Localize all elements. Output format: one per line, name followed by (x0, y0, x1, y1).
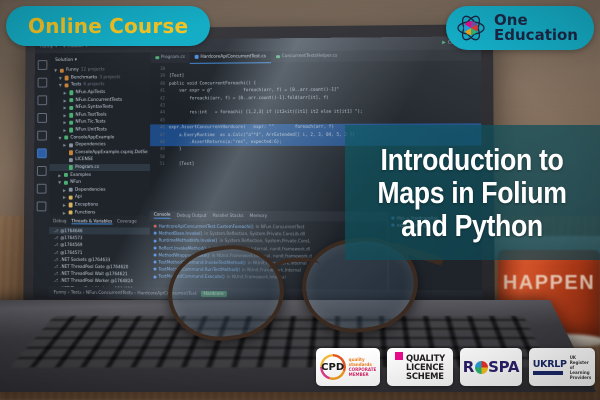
disclosure-arrow-icon[interactable]: ▶ (63, 113, 67, 118)
line-number: 48 (150, 139, 169, 146)
tree-item[interactable]: ▶Dependencies (50, 141, 150, 149)
frame-icon (154, 268, 157, 271)
file-type-icon (65, 76, 69, 80)
tree-item-label: Functions (75, 210, 95, 215)
file-type-icon (69, 128, 73, 132)
file-type-icon (69, 150, 73, 154)
disclosure-arrow-icon[interactable]: ▼ (58, 180, 62, 185)
tree-item-label: Funny (66, 68, 79, 73)
disclosure-arrow-icon[interactable]: ▼ (54, 68, 58, 73)
debug-tab[interactable]: Memory (250, 214, 267, 219)
frame-icon (154, 232, 157, 235)
title-line-3: and Python (378, 209, 567, 242)
tree-item[interactable]: ▼NFun (49, 179, 150, 187)
disclosure-arrow-icon[interactable]: ▼ (58, 135, 62, 140)
tree-item-label: NFun.UnitTests (75, 128, 107, 133)
ukrlp-bar-icon (533, 371, 563, 375)
line-number: 51 (150, 161, 169, 168)
disclosure-arrow-icon[interactable]: ▼ (59, 83, 63, 88)
cpd-abbr: CPD (320, 354, 346, 380)
thread-label: .NET ThreadPool Worker @1764824 (60, 278, 133, 284)
tree-item-label: Dependencies (75, 188, 105, 193)
tree-item[interactable]: Program.cs (50, 164, 150, 172)
tree-item-label: NFun.Tic.Tests (75, 120, 105, 125)
frame-icon (154, 239, 157, 242)
disclosure-arrow-icon[interactable]: ▶ (63, 195, 67, 200)
file-type-icon (69, 158, 73, 162)
file-type-icon (69, 98, 73, 102)
error-icon (154, 225, 157, 228)
title-line-2: Maps in Folium (378, 176, 567, 209)
title-line-1: Introduction to (378, 143, 567, 176)
thread-icon: ⎇ (54, 250, 59, 255)
threads-panel[interactable]: DebugThreads & VariablesCoverage ⎇@17646… (49, 215, 150, 287)
frame-icon (154, 246, 157, 249)
bookmarks-icon[interactable] (37, 131, 47, 141)
rospa-pre: R (463, 358, 474, 376)
mug-word-text: HAPPEN (498, 272, 600, 295)
line-number: 41 (150, 88, 169, 95)
file-type-icon (69, 121, 73, 125)
line-number: 42 (150, 95, 169, 102)
disclosure-arrow-icon[interactable]: ▶ (63, 120, 67, 125)
editor-tab-label: ConcurrentTestsHelper.cs (282, 54, 338, 59)
online-course-badge: Online Course (6, 6, 210, 46)
thread-label: @1764646 (60, 228, 82, 233)
project-view-icon[interactable] (38, 60, 48, 70)
qls-square-icon (395, 352, 403, 360)
chevron-down-icon: ▾ (75, 58, 77, 63)
thread-label: .NET Sockets @1764633 (60, 257, 110, 262)
debug-tab[interactable]: Debug Output (176, 213, 206, 218)
disclosure-arrow-icon[interactable]: ▶ (64, 98, 68, 103)
debug-tab[interactable]: Parallel Stacks (213, 213, 244, 218)
structure-icon[interactable] (37, 113, 47, 123)
badge-cpd: CPD quality standards CORPORATE MEMBER (316, 348, 380, 386)
disclosure-arrow-icon[interactable]: ▶ (63, 203, 67, 208)
thread-label: @1764569 (60, 243, 82, 248)
brand-logo-badge: One Education (446, 6, 594, 50)
thread-icon: ⎇ (54, 264, 59, 269)
editor-tab-label: HardcoreApiConcurrentTest.cs (200, 54, 266, 60)
ukrlp-mark: UKRLP (533, 359, 567, 376)
thread-icon: ⎇ (54, 271, 59, 276)
threads-list[interactable]: ⎇@1764646⎇@1764573⎇@1764569⎇@1764571⎇.NE… (49, 227, 150, 287)
line-number: 47 (150, 132, 169, 139)
thread-label: .NET ThreadPool Gate @1764620 (60, 264, 128, 269)
badge-quality-licence-scheme: QUALITY LICENCE SCHEME (387, 348, 453, 386)
thread-label: .NET ThreadPool Wait @1764621 (60, 271, 128, 277)
line-number: 38 (150, 66, 169, 73)
code-text: res:int = foreachi( [1,2,3] if (it2<it)[… (169, 109, 363, 117)
badge-rospa: R SPA (460, 348, 522, 386)
tree-item-label: ConsoleAppExample (70, 135, 114, 140)
atom-icon (456, 13, 486, 43)
cs-file-icon (276, 55, 280, 59)
threads-tab[interactable]: Threads & Variables (71, 218, 112, 224)
file-type-icon (69, 106, 73, 110)
terminal-icon[interactable] (37, 166, 47, 176)
line-number: 50 (150, 154, 169, 161)
tree-item-label: Tests (71, 83, 82, 88)
cs-file-icon (155, 56, 159, 60)
frame-icon (153, 275, 156, 278)
thread-icon: ⎇ (54, 257, 59, 262)
tree-item-label: NFun (70, 180, 81, 185)
disclosure-arrow-icon[interactable]: ▶ (63, 143, 67, 148)
file-type-icon (64, 173, 68, 177)
file-type-icon (65, 83, 69, 87)
line-number: 49 (150, 147, 169, 154)
file-type-icon (64, 135, 68, 139)
ukrlp-line-3: Providers (570, 375, 592, 380)
file-type-icon (69, 165, 73, 169)
debug-icon[interactable] (37, 148, 47, 158)
tree-item-label: NFun.SyntaxTests (75, 105, 113, 110)
editor-tab[interactable]: Program.cs (150, 52, 190, 63)
history-icon[interactable] (37, 184, 47, 194)
tree-item-sublabel: 12 projects (81, 68, 105, 73)
tree-item-label: Exceptions (75, 203, 98, 208)
qls-text: QUALITY LICENCE SCHEME (406, 354, 445, 381)
qls-line-3: SCHEME (406, 372, 445, 381)
brand-line-2: Education (494, 28, 578, 43)
thread-icon: ⎇ (54, 242, 59, 247)
file-type-icon (69, 203, 73, 207)
file-type-icon (64, 180, 68, 184)
thread-icon: ⎇ (54, 278, 59, 283)
code-text: } (169, 147, 182, 154)
editor-tab-label: Program.cs (161, 55, 185, 60)
disclosure-arrow-icon[interactable]: ▶ (63, 188, 67, 193)
tree-item-label: Examples (70, 173, 91, 178)
tree-item-label: ConsoleAppExample.csproj.DotSe (75, 150, 148, 155)
accreditation-badges: CPD quality standards CORPORATE MEMBER Q… (316, 348, 595, 386)
tree-item[interactable]: ConsoleAppExample.csproj.DotSe (50, 149, 150, 157)
cpd-line-4: MEMBER (349, 372, 377, 377)
glasses-left-lens (163, 239, 290, 346)
tree-item-label: Program.cs (75, 165, 99, 170)
tree-item-label: Dependencies (75, 143, 105, 148)
tree-item[interactable]: LICENSE (50, 156, 150, 164)
cpd-ring-icon: CPD (320, 354, 346, 380)
cs-file-icon (195, 55, 199, 59)
breadcrumb-item[interactable]: Tests (71, 290, 82, 295)
tree-item-sublabel: 3 projects (99, 75, 120, 80)
tree-item-label: LICENSE (75, 158, 93, 163)
editor-tab[interactable]: ConcurrentTestsHelper.cs (271, 51, 342, 63)
solution-tree[interactable]: ▼Funny 12 projects▼Benchmarks 3 projects… (49, 66, 150, 216)
code-text: foreachi(arr, f) = [0..arr.count()-1].fo… (169, 94, 329, 102)
tree-item-sublabel: 6 projects (83, 83, 104, 88)
file-type-icon (69, 91, 73, 95)
tree-item-label: Api (75, 195, 82, 200)
badge-ukrlp: UKRLP UK Register of Learning Providers (529, 348, 595, 386)
ukrlp-line-2: of Learning (570, 365, 592, 375)
code-text: .AssertReturns(a:"res", expected:6); (169, 139, 282, 147)
threads-tabs[interactable]: DebugThreads & VariablesCoverage (49, 217, 150, 227)
cpd-text: quality standards CORPORATE MEMBER (349, 357, 377, 378)
rospa-post: SPA (488, 358, 519, 376)
course-title: Introduction to Maps in Folium and Pytho… (378, 143, 567, 242)
file-type-icon (69, 113, 73, 117)
solution-label: Solution (55, 58, 73, 63)
debug-tab[interactable]: Console (154, 213, 171, 219)
thread-label: @1764571 (60, 250, 82, 255)
thread-icon: ⎇ (54, 235, 59, 240)
file-type-icon (69, 195, 73, 199)
tree-item-label: NFun.ConcurrentTests (76, 98, 123, 103)
ide-tool-rail (33, 53, 50, 298)
rospa-text: R SPA (463, 358, 519, 376)
code-text: [Test] (169, 73, 184, 80)
course-promo-banner: HAPPEN a Funny ▾ ⑂ master ▾ ▶ ConsoleApp (0, 0, 600, 400)
disclosure-arrow-icon[interactable]: ▼ (59, 76, 63, 81)
file-type-icon (69, 188, 73, 192)
ukrlp-line-1: UK Register (570, 355, 592, 365)
threads-tab[interactable]: Coverage (117, 219, 137, 225)
ukrlp-text: UK Register of Learning Providers (570, 355, 592, 380)
file-type-icon (69, 210, 73, 214)
ukrlp-abbr: UKRLP (533, 359, 567, 370)
line-number: 39 (150, 73, 169, 80)
solution-header: Solution ▾ (50, 55, 150, 67)
commit-icon[interactable] (38, 78, 48, 88)
frame-icon (154, 261, 157, 264)
line-number: 43 (150, 103, 169, 110)
frame-icon (154, 253, 157, 256)
thread-icon: ⎇ (54, 228, 59, 233)
course-title-overlay: Introduction to Maps in Folium and Pytho… (345, 125, 600, 260)
disclosure-arrow-icon[interactable]: ▶ (63, 210, 67, 215)
line-number: 40 (150, 81, 169, 88)
disclosure-arrow-icon[interactable]: ▶ (64, 90, 68, 95)
tree-item-label: NFun.TestTools (75, 113, 106, 118)
disclosure-arrow-icon[interactable]: ▶ (63, 105, 67, 110)
problems-icon[interactable] (37, 201, 47, 211)
breadcrumb-item[interactable]: NFun.ConcurrentTests (86, 290, 133, 295)
file-type-icon (60, 68, 64, 72)
file-type-icon (69, 143, 73, 147)
brand-name: One Education (494, 13, 578, 43)
threads-tab[interactable]: Debug (53, 218, 66, 224)
tree-item[interactable]: ▶Examples (49, 171, 150, 179)
disclosure-arrow-icon[interactable]: ▶ (63, 128, 67, 133)
code-text: [Test] (169, 161, 195, 168)
line-number: 44 (150, 110, 169, 117)
line-number: 45 (150, 117, 169, 124)
breadcrumb-item[interactable]: Funny (54, 290, 67, 295)
line-number: 46 (150, 125, 169, 132)
thread-label: @1764573 (60, 235, 82, 240)
tree-item-label: Benchmarks (71, 75, 98, 80)
disclosure-arrow-icon[interactable]: ▶ (58, 173, 62, 178)
rospa-circle-icon (475, 361, 488, 374)
play-icon: ▶ (442, 41, 446, 46)
tree-item-label: NFun.ApiTests (76, 90, 106, 95)
more-icon[interactable] (37, 95, 47, 105)
